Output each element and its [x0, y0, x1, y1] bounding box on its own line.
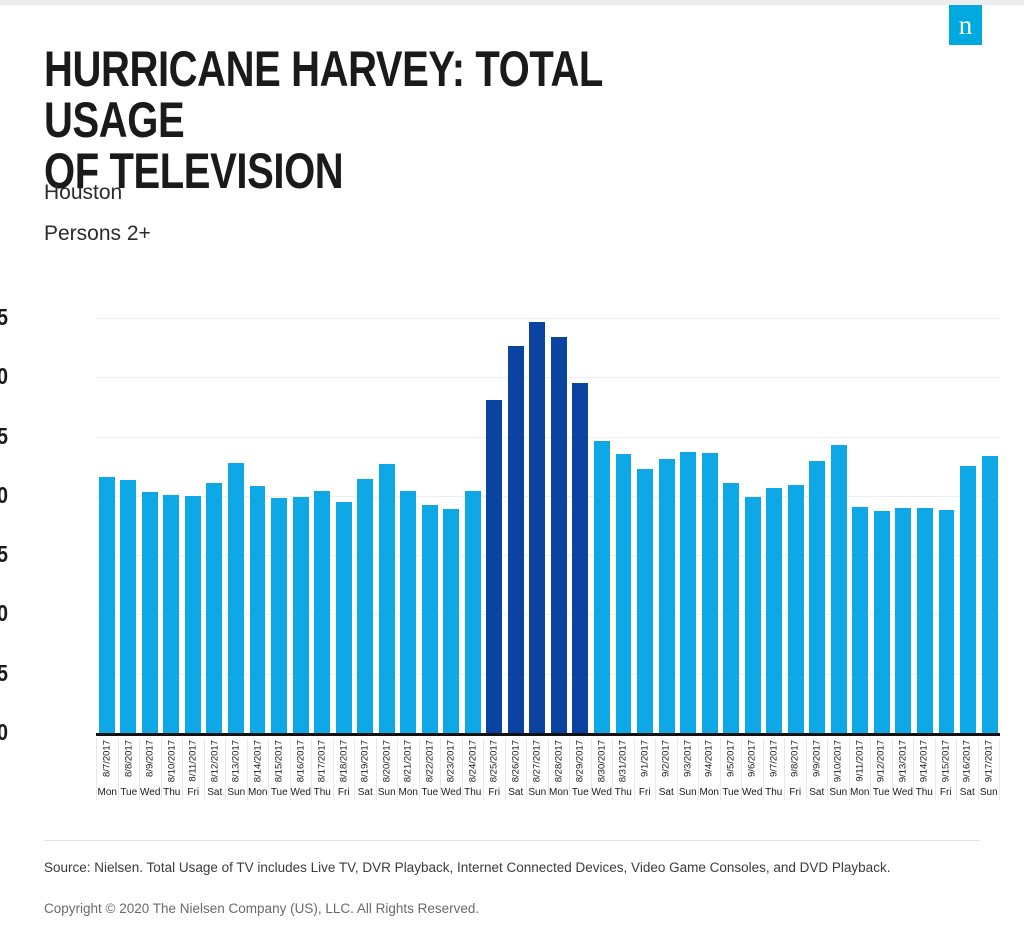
x-tick-day: Tue	[570, 787, 591, 798]
x-label-cell: 8/16/2017Wed	[291, 738, 313, 800]
x-tick-date: 8/23/2017	[446, 740, 457, 782]
bar[interactable]	[745, 497, 761, 733]
y-tick-label: 35	[0, 304, 8, 331]
x-label-cell: 8/29/2017Tue	[570, 738, 592, 800]
x-tick-day: Fri	[635, 787, 656, 798]
bar[interactable]	[314, 491, 330, 733]
x-tick-date: 8/9/2017	[145, 740, 156, 777]
x-tick-day: Fri	[334, 787, 355, 798]
x-label-cell: 8/7/2017Mon	[96, 738, 119, 800]
bar[interactable]	[659, 459, 675, 733]
x-tick-date: 8/17/2017	[317, 740, 328, 782]
bar[interactable]	[486, 400, 502, 733]
bar-slot	[527, 318, 549, 733]
bar-slot	[763, 318, 785, 733]
x-tick-day: Mon	[97, 787, 118, 798]
x-tick-date: 8/7/2017	[102, 740, 113, 777]
x-tick-day: Thu	[613, 787, 634, 798]
x-tick-date: 9/7/2017	[768, 740, 779, 777]
bar-slot	[397, 318, 419, 733]
bar-slot	[333, 318, 355, 733]
bar[interactable]	[271, 498, 287, 733]
bar[interactable]	[982, 456, 998, 733]
x-tick-day: Mon	[248, 787, 269, 798]
x-label-cell: 8/8/2017Tue	[119, 738, 141, 800]
x-label-cell: 8/28/2017Mon	[549, 738, 571, 800]
x-label-cell: 8/20/2017Sun	[377, 738, 399, 800]
bar[interactable]	[572, 383, 588, 733]
bar-slot	[914, 318, 936, 733]
bar-slot	[936, 318, 958, 733]
bar-slot	[591, 318, 613, 733]
bar-slot	[441, 318, 463, 733]
x-tick-day: Fri	[936, 787, 957, 798]
x-tick-date: 8/18/2017	[338, 740, 349, 782]
x-tick-date: 9/11/2017	[854, 740, 865, 782]
x-tick-day: Sun	[527, 787, 548, 798]
x-label-cell: 8/9/2017Wed	[140, 738, 162, 800]
x-tick-date: 9/4/2017	[704, 740, 715, 777]
bar-slot	[742, 318, 764, 733]
x-tick-date: 8/31/2017	[618, 740, 629, 782]
x-tick-date: 8/19/2017	[360, 740, 371, 782]
x-tick-date: 9/14/2017	[919, 740, 930, 782]
bar-slot	[807, 318, 829, 733]
x-axis-line	[96, 733, 1000, 736]
page-title: HURRICANE HARVEY: TOTAL USAGE OF TELEVIS…	[44, 44, 604, 197]
bar[interactable]	[939, 510, 955, 733]
x-label-cell: 8/25/2017Fri	[484, 738, 506, 800]
x-tick-day: Tue	[269, 787, 290, 798]
y-tick-label: 10	[0, 600, 8, 627]
x-tick-day: Fri	[183, 787, 204, 798]
x-tick-day: Sat	[355, 787, 376, 798]
x-tick-day: Sun	[828, 787, 849, 798]
plot-area	[96, 318, 1000, 733]
bar-slot	[225, 318, 247, 733]
x-label-cell: 9/4/2017Mon	[699, 738, 721, 800]
x-tick-day: Wed	[140, 787, 161, 798]
x-label-cell: 9/9/2017Sat	[807, 738, 829, 800]
x-tick-date: 9/8/2017	[790, 740, 801, 777]
x-tick-day: Mon	[699, 787, 720, 798]
bar[interactable]	[357, 479, 373, 733]
bar[interactable]	[680, 452, 696, 733]
bar[interactable]	[336, 502, 352, 733]
bar-slot	[656, 318, 678, 733]
y-tick-label: 20	[0, 482, 8, 509]
x-label-cell: 9/17/2017Sun	[979, 738, 1001, 800]
x-label-cell: 9/8/2017Fri	[785, 738, 807, 800]
bar[interactable]	[766, 488, 782, 733]
bar[interactable]	[185, 496, 201, 733]
x-tick-date: 8/8/2017	[123, 740, 134, 777]
x-tick-date: 9/3/2017	[682, 740, 693, 777]
x-tick-date: 8/22/2017	[424, 740, 435, 782]
bar-slot	[268, 318, 290, 733]
x-tick-day: Mon	[850, 787, 871, 798]
bar-slot	[139, 318, 161, 733]
bar-slot	[376, 318, 398, 733]
x-tick-date: 8/26/2017	[510, 740, 521, 782]
bar[interactable]	[917, 508, 933, 733]
x-tick-day: Tue	[119, 787, 140, 798]
x-tick-date: 9/13/2017	[897, 740, 908, 782]
x-label-cell: 8/23/2017Wed	[441, 738, 463, 800]
x-tick-date: 8/12/2017	[209, 740, 220, 782]
x-tick-date: 9/12/2017	[876, 740, 887, 782]
x-tick-day: Thu	[312, 787, 333, 798]
x-label-cell: 8/13/2017Sun	[226, 738, 248, 800]
x-tick-date: 8/10/2017	[166, 740, 177, 782]
bar-slot	[484, 318, 506, 733]
bar-slot	[247, 318, 269, 733]
bar-slot	[462, 318, 484, 733]
x-label-cell: 9/15/2017Fri	[936, 738, 958, 800]
x-tick-day: Wed	[592, 787, 613, 798]
x-tick-date: 9/9/2017	[811, 740, 822, 777]
x-label-cell: 8/10/2017Thu	[162, 738, 184, 800]
x-tick-day: Sun	[678, 787, 699, 798]
bar[interactable]	[293, 497, 309, 733]
bar[interactable]	[120, 480, 136, 733]
x-tick-day: Sat	[957, 787, 978, 798]
x-tick-date: 8/28/2017	[553, 740, 564, 782]
x-tick-date: 8/13/2017	[231, 740, 242, 782]
bar-slot	[96, 318, 118, 733]
bar-slot	[161, 318, 183, 733]
x-tick-date: 9/16/2017	[962, 740, 973, 782]
x-tick-date: 8/20/2017	[381, 740, 392, 782]
x-label-cell: 8/19/2017Sat	[355, 738, 377, 800]
x-tick-date: 9/2/2017	[661, 740, 672, 777]
bar-slot	[634, 318, 656, 733]
copyright-note: Copyright © 2020 The Nielsen Company (US…	[44, 901, 479, 916]
bar-slot	[979, 318, 1001, 733]
bar-slot	[850, 318, 872, 733]
x-label-cell: 9/1/2017Fri	[635, 738, 657, 800]
x-tick-day: Tue	[871, 787, 892, 798]
bar-slot	[311, 318, 333, 733]
x-tick-date: 8/11/2017	[188, 740, 199, 782]
footer-divider	[44, 840, 980, 841]
x-label-cell: 9/2/2017Sat	[656, 738, 678, 800]
bar[interactable]	[874, 511, 890, 733]
x-tick-day: Sat	[807, 787, 828, 798]
x-tick-date: 8/29/2017	[575, 740, 586, 782]
bar[interactable]	[99, 477, 115, 733]
x-tick-day: Thu	[914, 787, 935, 798]
x-tick-day: Tue	[420, 787, 441, 798]
bar[interactable]	[551, 337, 567, 733]
x-tick-date: 8/15/2017	[274, 740, 285, 782]
x-tick-date: 8/16/2017	[295, 740, 306, 782]
x-tick-day: Wed	[742, 787, 763, 798]
x-tick-date: 8/21/2017	[403, 740, 414, 782]
top-divider-band	[0, 0, 1024, 5]
x-tick-date: 9/15/2017	[940, 740, 951, 782]
bar-slot	[893, 318, 915, 733]
x-axis-labels: 8/7/2017Mon8/8/2017Tue8/9/2017Wed8/10/20…	[96, 738, 1000, 800]
x-label-cell: 8/18/2017Fri	[334, 738, 356, 800]
y-tick-label: 30	[0, 363, 8, 390]
bar[interactable]	[723, 483, 739, 733]
x-tick-day: Thu	[162, 787, 183, 798]
x-tick-day: Sun	[377, 787, 398, 798]
x-label-cell: 8/24/2017Thu	[463, 738, 485, 800]
bar-slot	[290, 318, 312, 733]
bar[interactable]	[852, 507, 868, 733]
bar-slot	[957, 318, 979, 733]
y-tick-label: 25	[0, 423, 8, 450]
x-label-cell: 9/12/2017Tue	[871, 738, 893, 800]
x-label-cell: 8/26/2017Sat	[506, 738, 528, 800]
bar[interactable]	[379, 464, 395, 733]
bar-slot	[871, 318, 893, 733]
bar-slot	[720, 318, 742, 733]
bar[interactable]	[228, 463, 244, 733]
x-tick-date: 8/24/2017	[467, 740, 478, 782]
x-tick-day: Sun	[226, 787, 247, 798]
x-label-cell: 8/11/2017Fri	[183, 738, 205, 800]
x-tick-day: Mon	[398, 787, 419, 798]
x-tick-day: Sat	[506, 787, 527, 798]
x-label-cell: 9/11/2017Mon	[850, 738, 872, 800]
x-tick-day: Mon	[549, 787, 570, 798]
x-label-cell: 8/12/2017Sat	[205, 738, 227, 800]
bar[interactable]	[206, 483, 222, 733]
x-label-cell: 9/13/2017Wed	[893, 738, 915, 800]
x-tick-day: Sat	[656, 787, 677, 798]
x-label-cell: 9/5/2017Tue	[721, 738, 743, 800]
x-tick-day: Tue	[721, 787, 742, 798]
bar-slot	[828, 318, 850, 733]
bar[interactable]	[250, 486, 266, 733]
bar[interactable]	[594, 441, 610, 733]
x-label-cell: 8/15/2017Tue	[269, 738, 291, 800]
bar-slot	[182, 318, 204, 733]
x-tick-day: Sat	[205, 787, 226, 798]
bar-slot	[785, 318, 807, 733]
bar-slot	[570, 318, 592, 733]
bar[interactable]	[465, 491, 481, 733]
x-tick-date: 8/14/2017	[252, 740, 263, 782]
bar[interactable]	[616, 454, 632, 733]
x-label-cell: 9/7/2017Thu	[764, 738, 786, 800]
x-tick-date: 9/5/2017	[725, 740, 736, 777]
bar-slot	[204, 318, 226, 733]
header: HURRICANE HARVEY: TOTAL USAGE OF TELEVIS…	[44, 44, 744, 197]
x-label-cell: 8/31/2017Thu	[613, 738, 635, 800]
bar[interactable]	[163, 495, 179, 733]
bar-slot	[419, 318, 441, 733]
bar-slot	[505, 318, 527, 733]
bar[interactable]	[788, 485, 804, 733]
bar[interactable]	[831, 445, 847, 733]
x-tick-date: 9/10/2017	[833, 740, 844, 782]
x-label-cell: 8/27/2017Sun	[527, 738, 549, 800]
nielsen-logo: n	[949, 5, 982, 45]
bar-slot	[613, 318, 635, 733]
x-label-cell: 9/10/2017Sun	[828, 738, 850, 800]
x-tick-date: 9/1/2017	[639, 740, 650, 777]
bar[interactable]	[443, 509, 459, 733]
x-label-cell: 9/14/2017Thu	[914, 738, 936, 800]
x-tick-date: 9/6/2017	[747, 740, 758, 777]
subtitle-demographic: Persons 2+	[44, 222, 151, 246]
x-label-cell: 9/16/2017Sat	[957, 738, 979, 800]
y-tick-label: 5	[0, 660, 8, 687]
bar[interactable]	[809, 461, 825, 733]
bar[interactable]	[702, 453, 718, 733]
x-tick-date: 8/30/2017	[596, 740, 607, 782]
x-tick-day: Fri	[785, 787, 806, 798]
bar-slot	[699, 318, 721, 733]
x-tick-day: Thu	[764, 787, 785, 798]
x-tick-day: Wed	[893, 787, 914, 798]
x-tick-date: 8/25/2017	[489, 740, 500, 782]
x-tick-day: Wed	[291, 787, 312, 798]
y-tick-label: 15	[0, 541, 8, 568]
x-label-cell: 8/21/2017Mon	[398, 738, 420, 800]
x-label-cell: 8/14/2017Mon	[248, 738, 270, 800]
bar[interactable]	[895, 508, 911, 733]
x-tick-day: Fri	[484, 787, 505, 798]
y-tick-label: 0	[0, 719, 8, 746]
bar-slot	[118, 318, 140, 733]
x-tick-day: Thu	[463, 787, 484, 798]
bar-slot	[677, 318, 699, 733]
bar[interactable]	[142, 492, 158, 733]
x-tick-day: Sun	[979, 787, 1000, 798]
x-tick-date: 8/27/2017	[532, 740, 543, 782]
source-note: Source: Nielsen. Total Usage of TV inclu…	[44, 860, 890, 875]
x-tick-date: 9/17/2017	[983, 740, 994, 782]
x-tick-day: Wed	[441, 787, 462, 798]
x-label-cell: 8/30/2017Wed	[592, 738, 614, 800]
bar[interactable]	[422, 505, 438, 733]
bar-slot	[548, 318, 570, 733]
x-label-cell: 9/3/2017Sun	[678, 738, 700, 800]
bar[interactable]	[529, 322, 545, 733]
bar[interactable]	[637, 469, 653, 733]
x-label-cell: 8/22/2017Tue	[420, 738, 442, 800]
bar[interactable]	[960, 466, 976, 733]
bar[interactable]	[400, 491, 416, 733]
bar-slot	[354, 318, 376, 733]
subtitle-market: Houston	[44, 181, 122, 205]
bar[interactable]	[508, 346, 524, 733]
bar-series	[96, 318, 1000, 733]
x-label-cell: 8/17/2017Thu	[312, 738, 334, 800]
x-label-cell: 9/6/2017Wed	[742, 738, 764, 800]
